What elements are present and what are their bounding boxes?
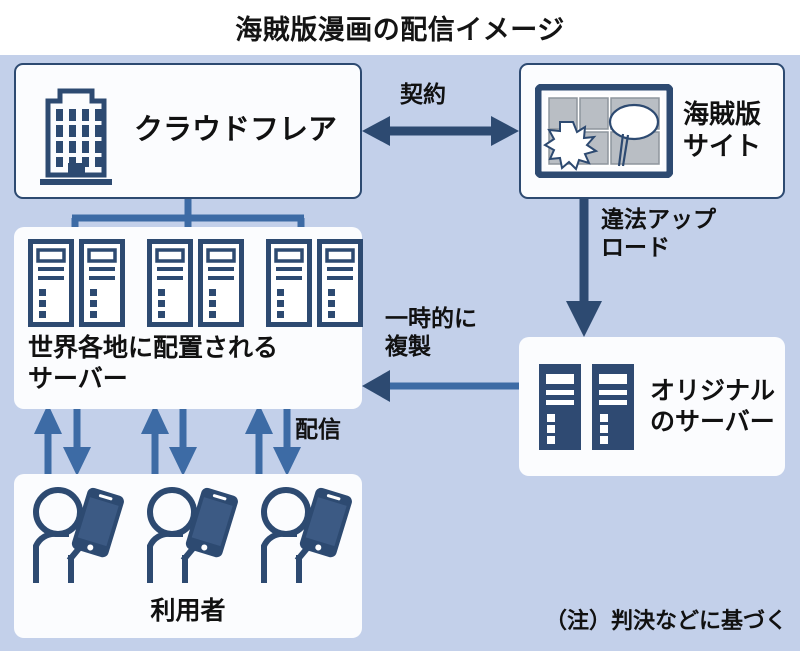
page-title: 海賊版漫画の配信イメージ — [235, 8, 564, 47]
node-pirate-site-label: 海賊版 サイト — [683, 99, 761, 162]
server-rack-outline-icon — [79, 239, 125, 327]
server-rack-outline-icon — [266, 239, 312, 327]
node-original-server[interactable]: オリジナル のサーバー — [519, 337, 785, 476]
edge-contract-label: 契約 — [400, 81, 446, 109]
person-smartphone-icon — [138, 484, 238, 590]
person-smartphone-icon — [252, 484, 352, 590]
manga-page-icon — [535, 84, 673, 178]
node-cloudflare-label: クラウドフレア — [134, 113, 337, 148]
edge-illegal-upload-label: 違法アップ ロード — [601, 206, 716, 261]
node-global-servers[interactable]: 世界各地に配置される サーバー — [14, 227, 362, 409]
source-note: （注）判決などに基づく — [545, 603, 787, 635]
node-users-label: 利用者 — [150, 596, 225, 627]
server-rack-outline-icon — [198, 239, 244, 327]
edge-contract-arrow — [362, 116, 519, 146]
edge-temporary-copy-label: 一時的に 複製 — [385, 305, 477, 360]
node-pirate-site[interactable]: 海賊版 サイト — [519, 63, 785, 199]
title-bar: 海賊版漫画の配信イメージ — [0, 0, 800, 55]
server-rack-outline-icon — [147, 239, 193, 327]
server-rack-outline-icon — [317, 239, 363, 327]
diagram-canvas: クラウドフレア — [0, 55, 800, 651]
server-rack-solid-icon — [537, 362, 583, 452]
node-users[interactable]: 利用者 — [14, 474, 362, 638]
office-building-icon — [32, 75, 120, 187]
diagram-root: 海賊版漫画の配信イメージ — [0, 0, 800, 651]
edge-illegal-upload-arrow — [566, 199, 602, 337]
node-original-server-label: オリジナル のサーバー — [650, 376, 775, 437]
edge-distribution-arrows — [34, 404, 301, 476]
edge-temporary-copy-arrow — [362, 370, 519, 402]
person-smartphone-group — [24, 484, 352, 590]
person-smartphone-icon — [24, 484, 124, 590]
edge-branch-connector — [72, 199, 304, 229]
server-rack-outline-group — [28, 239, 363, 327]
speech-bubble — [610, 105, 658, 139]
server-rack-outline-icon — [28, 239, 74, 327]
node-global-servers-label: 世界各地に配置される サーバー — [28, 333, 278, 394]
server-rack-solid-icon — [590, 362, 636, 452]
edge-distribution-label: 配信 — [295, 416, 341, 444]
node-cloudflare[interactable]: クラウドフレア — [14, 63, 362, 199]
server-rack-solid-group — [537, 362, 636, 452]
